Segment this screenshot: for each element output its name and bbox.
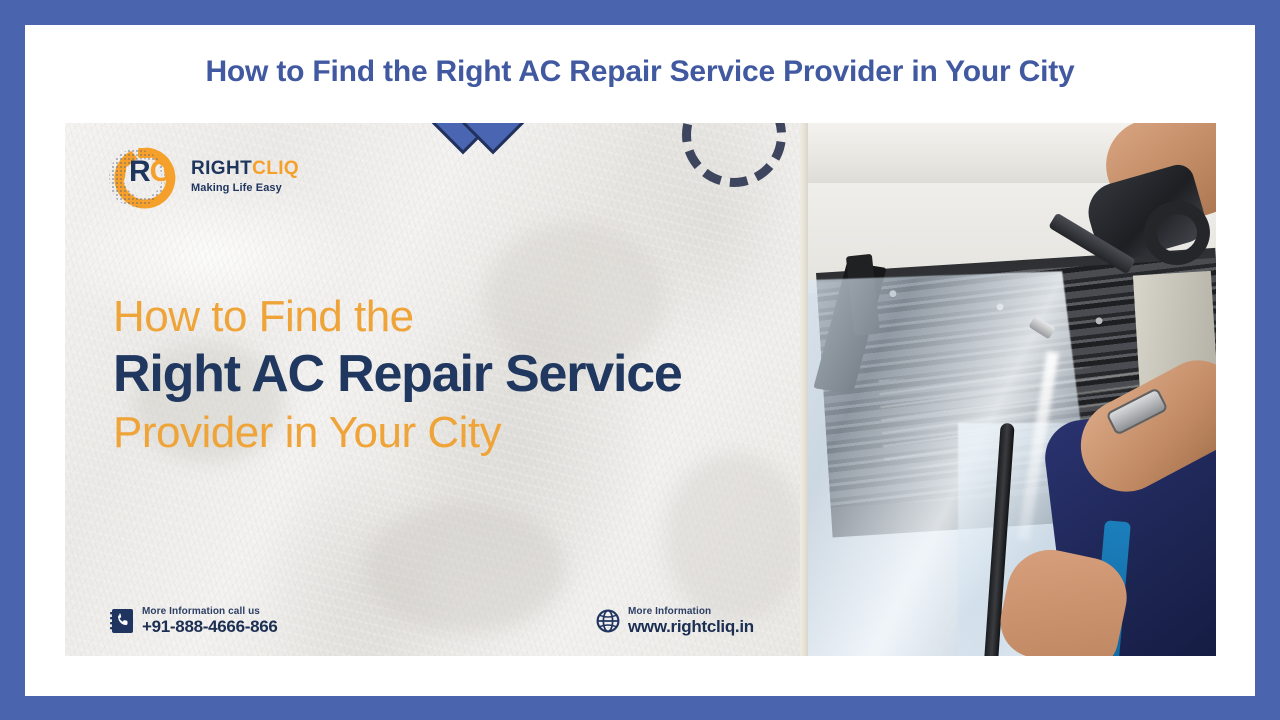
hero-headline-line-2: Right AC Repair Service (113, 345, 773, 405)
logo-initial-r: R (129, 155, 150, 188)
texture-blotch (365, 503, 565, 633)
contact-web-url: www.rightcliq.in (628, 618, 754, 636)
panel-divider (800, 123, 808, 656)
contact-phone-label: More Information call us (142, 607, 278, 618)
logo-wordmark: RIGHTCLIQ Making Life Easy (191, 159, 299, 194)
hero-headline-line-3: Provider in Your City (113, 409, 773, 457)
banner-left-panel: RC RIGHTCLIQ Making Life Easy How to Fin… (65, 123, 800, 656)
hero-headline-line-1: How to Find the (113, 293, 773, 341)
contact-phone-text: More Information call us +91-888-4666-86… (142, 607, 278, 636)
brand-logo: RC RIGHTCLIQ Making Life Easy (107, 141, 407, 213)
globe-icon (595, 608, 621, 634)
chevron-decoration (420, 123, 540, 191)
banner-photo-panel (808, 123, 1216, 656)
dashed-circle-icon (682, 123, 786, 187)
contact-web-block: More Information www.rightcliq.in (595, 607, 754, 636)
outer-blue-frame: How to Find the Right AC Repair Service … (0, 0, 1280, 720)
page-title: How to Find the Right AC Repair Service … (25, 55, 1255, 89)
phone-book-icon (109, 608, 135, 634)
texture-blotch (665, 453, 800, 623)
hero-headline: How to Find the Right AC Repair Service … (113, 293, 773, 458)
logo-initials: RC (129, 157, 170, 187)
banner-image: RC RIGHTCLIQ Making Life Easy How to Fin… (65, 123, 1216, 656)
contact-phone-block: More Information call us +91-888-4666-86… (109, 607, 278, 636)
contact-web-text: More Information www.rightcliq.in (628, 607, 754, 636)
logo-tagline: Making Life Easy (191, 182, 299, 194)
logo-name: RIGHTCLIQ (191, 159, 299, 178)
logo-name-right: RIGHT (191, 158, 252, 179)
white-page-sheet: How to Find the Right AC Repair Service … (25, 25, 1255, 696)
contact-web-label: More Information (628, 607, 754, 618)
logo-initial-c: C (150, 155, 171, 188)
contact-phone-number: +91-888-4666-866 (142, 618, 278, 636)
logo-name-cliq: CLIQ (252, 158, 299, 179)
